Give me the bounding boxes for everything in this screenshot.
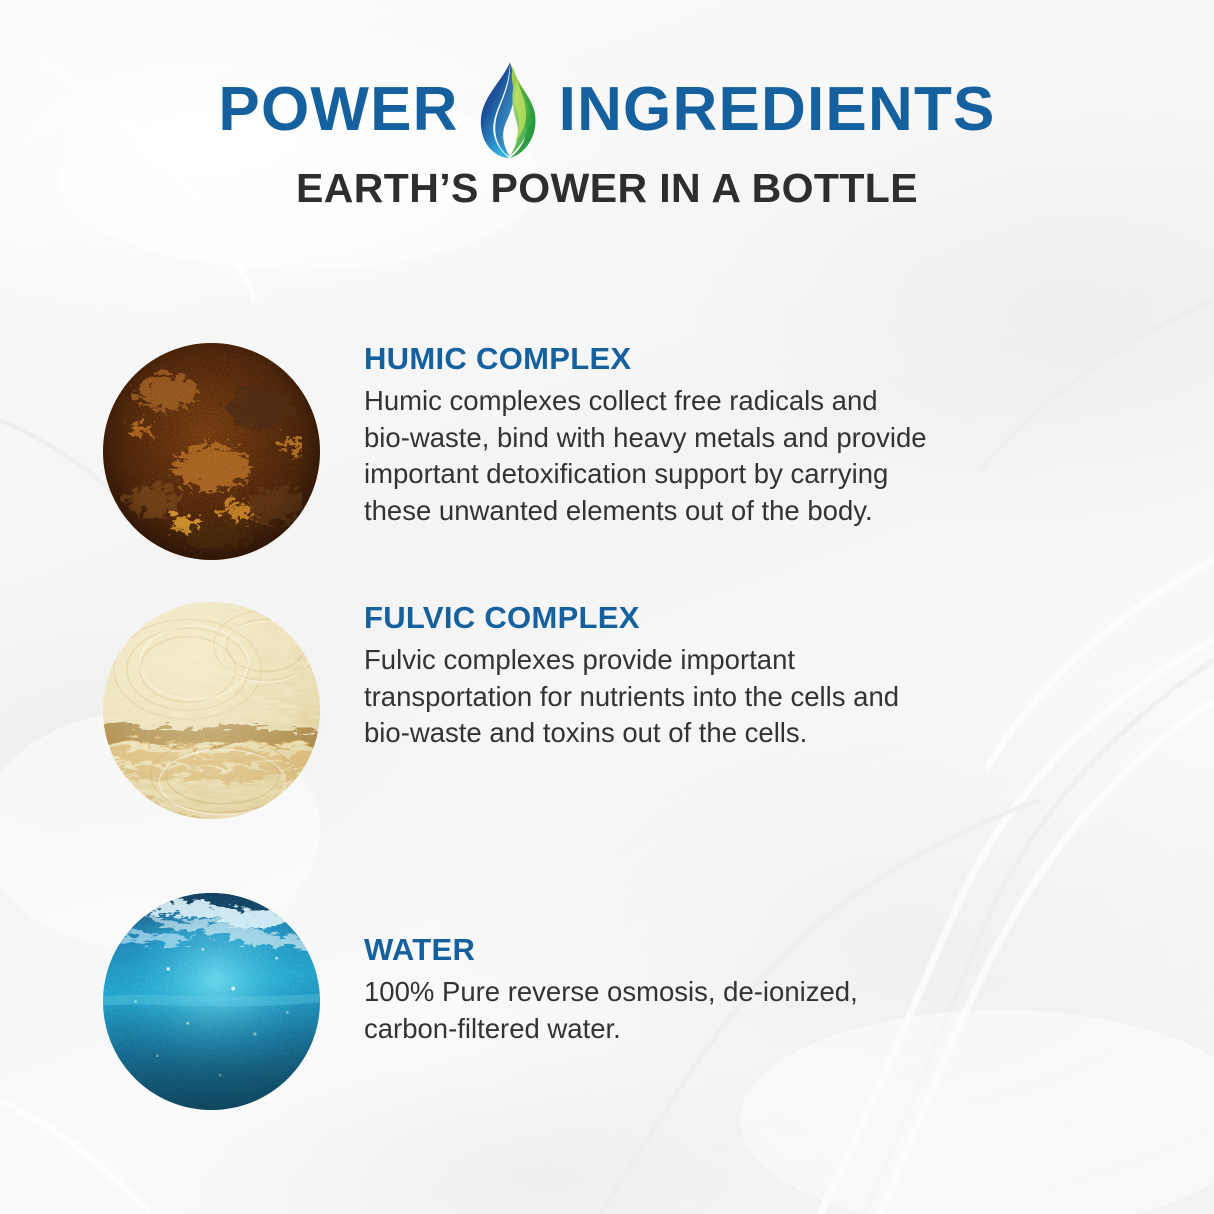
brand-lockup: POWER — [0, 74, 1214, 146]
header: POWER — [0, 74, 1214, 209]
ingredient-title-fulvic: FULVIC COMPLEX — [364, 602, 899, 633]
body-line: Humic complexes collect free radicals an… — [364, 383, 927, 420]
body-line: bio-waste and toxins out of the cells. — [364, 715, 899, 752]
water-droplet-leaf-icon — [477, 60, 541, 160]
ingredient-row-fulvic: FULVIC COMPLEX Fulvic complexes provide … — [103, 602, 1143, 819]
ingredient-copy-humic: HUMIC COMPLEX Humic complexes collect fr… — [364, 343, 927, 529]
ingredient-copy-water: WATER 100% Pure reverse osmosis, de-ioni… — [364, 934, 858, 1047]
ingredient-body-water: 100% Pure reverse osmosis, de-ionized, c… — [364, 974, 858, 1047]
soil-texture-image — [103, 343, 320, 560]
tagline: EARTH’S POWER IN A BOTTLE — [0, 168, 1214, 209]
body-line: bio-waste, bind with heavy metals and pr… — [364, 420, 927, 457]
ingredient-row-water: WATER 100% Pure reverse osmosis, de-ioni… — [103, 893, 1143, 1110]
ingredients-infographic: POWER — [0, 0, 1214, 1214]
brand-word-power: POWER — [218, 79, 458, 141]
ingredient-copy-fulvic: FULVIC COMPLEX Fulvic complexes provide … — [364, 602, 899, 752]
body-line: 100% Pure reverse osmosis, de-ionized, — [364, 974, 858, 1011]
ingredient-title-humic: HUMIC COMPLEX — [364, 343, 927, 374]
ingredient-body-humic: Humic complexes collect free radicals an… — [364, 383, 927, 529]
body-line: these unwanted elements out of the body. — [364, 493, 927, 530]
body-line: transportation for nutrients into the ce… — [364, 679, 899, 716]
body-line: carbon-filtered water. — [364, 1011, 858, 1048]
ingredient-title-water: WATER — [364, 934, 858, 965]
ingredient-row-humic: HUMIC COMPLEX Humic complexes collect fr… — [103, 343, 1143, 560]
brand-word-ingredients: INGREDIENTS — [559, 79, 996, 141]
body-line: important detoxification support by carr… — [364, 456, 927, 493]
ingredient-body-fulvic: Fulvic complexes provide important trans… — [364, 642, 899, 752]
body-line: Fulvic complexes provide important — [364, 642, 899, 679]
golden-water-image — [103, 602, 320, 819]
blue-water-image — [103, 893, 320, 1110]
